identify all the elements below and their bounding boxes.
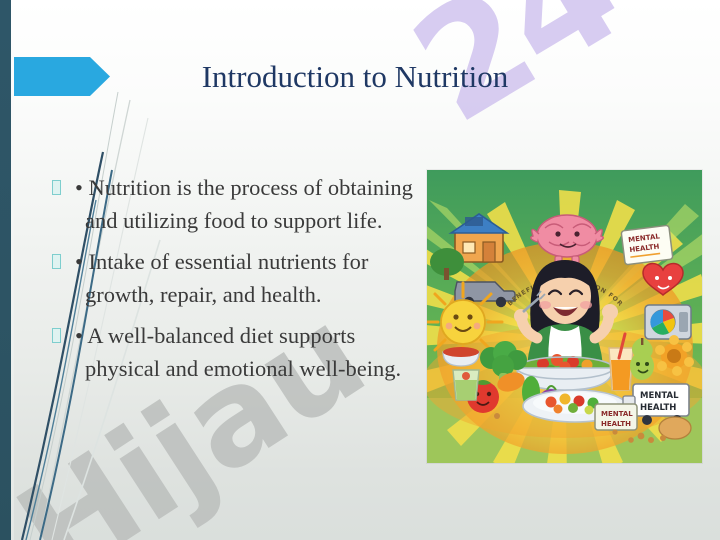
svg-text:HEALTH: HEALTH	[640, 403, 676, 413]
list-item: • Intake of essential nutrients for grow…	[52, 245, 422, 311]
list-item-text: • A well-balanced diet supports physical…	[75, 319, 422, 385]
bullet-tofu-icon	[52, 254, 61, 269]
page-title: Introduction to Nutrition	[120, 56, 590, 102]
slide: 24 Hijau Introduction to Nutrition • Nut…	[0, 0, 720, 540]
list-item-text: • Nutrition is the process of obtaining …	[75, 171, 422, 237]
list-item: • A well-balanced diet supports physical…	[52, 319, 422, 385]
list-item: • Nutrition is the process of obtaining …	[52, 171, 422, 237]
bullet-tofu-icon	[52, 328, 61, 343]
bullet-list: • Nutrition is the process of obtaining …	[52, 171, 422, 393]
svg-text:MENTAL: MENTAL	[640, 391, 679, 401]
notepad-icon: MENTAL HEALTH	[621, 225, 673, 265]
left-edge-bar	[0, 0, 11, 540]
pear-icon	[630, 338, 654, 380]
bullet-tofu-icon	[52, 180, 61, 195]
mental-health-plaque: MENTAL HEALTH	[595, 404, 637, 430]
list-item-text: • Intake of essential nutrients for grow…	[75, 245, 422, 311]
left-edge-bar-highlight	[11, 0, 14, 540]
side-bowl-icon	[443, 347, 479, 366]
pie-chart-icon	[645, 305, 691, 339]
nutrition-illustration: MENTAL HEALTH	[427, 170, 702, 463]
chevron-banner-icon	[0, 57, 110, 96]
svg-text:MENTAL: MENTAL	[601, 410, 633, 418]
smoothie-glass-icon	[453, 370, 479, 400]
nutrition-illustration-art: MENTAL HEALTH	[427, 170, 702, 463]
svg-text:HEALTH: HEALTH	[601, 420, 631, 428]
